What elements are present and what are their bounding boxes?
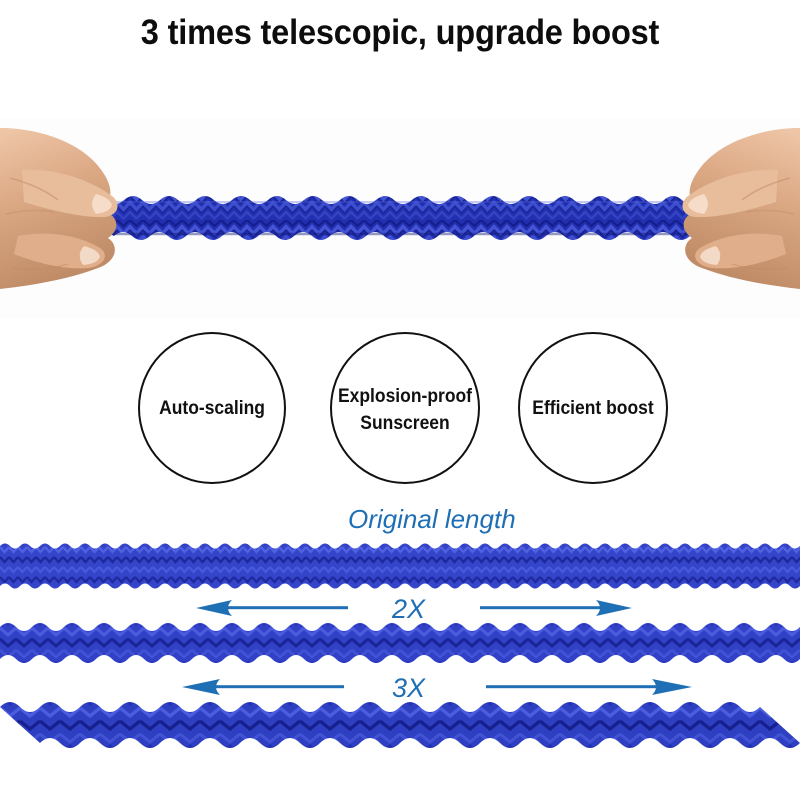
arrow-right-icon	[486, 679, 692, 695]
feature-circle-efficient-boost[interactable]: Efficient boost	[518, 332, 668, 484]
feature-circle-auto-scaling[interactable]: Auto-scaling	[138, 332, 286, 484]
feature-label-explosion-proof: Explosion-proof Sunscreen	[318, 384, 493, 438]
arrow-left-icon	[182, 679, 344, 695]
feature-circle-explosion-proof[interactable]: Explosion-proof Sunscreen	[330, 332, 480, 484]
stretch-comparison: Original length	[0, 497, 800, 800]
feature-label-line-1: Explosion-proof	[338, 386, 472, 407]
left-hand	[0, 128, 118, 290]
arrow-right-icon	[480, 600, 632, 616]
rope-band-original	[0, 540, 800, 592]
page-title: 3 times telescopic, upgrade boost	[28, 13, 772, 53]
hero-stretch-photo	[0, 118, 800, 318]
right-hand	[682, 128, 800, 290]
rope-band-2x	[0, 619, 800, 667]
feature-label-efficient-boost: Efficient boost	[506, 396, 681, 423]
feature-label-line-2: Sunscreen	[360, 413, 449, 434]
braided-rope-icon	[52, 196, 762, 240]
product-infographic: 3 times telescopic, upgrade boost	[0, 0, 800, 800]
original-length-label: Original length	[348, 504, 516, 535]
rope-band-3x	[0, 697, 800, 753]
hero-illustration	[0, 118, 800, 318]
feature-label-auto-scaling: Auto-scaling	[126, 396, 299, 423]
arrow-left-icon	[196, 600, 348, 616]
